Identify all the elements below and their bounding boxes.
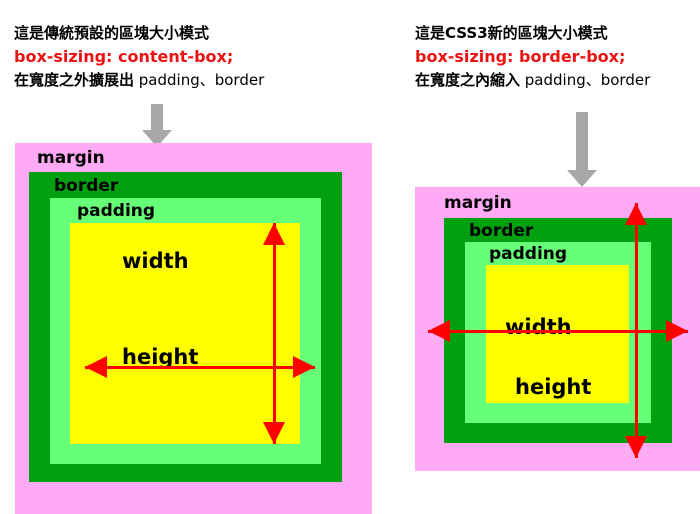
arrow-head-left xyxy=(428,320,450,342)
height-label: height xyxy=(515,377,591,398)
caption-line-intro: 這是傳統預設的區塊大小模式 xyxy=(14,22,264,45)
border-label: border xyxy=(469,223,533,240)
width-measure-arrow xyxy=(428,319,688,343)
caption-content-box: 這是傳統預設的區塊大小模式 box-sizing: content-box; 在… xyxy=(14,22,264,91)
caption-detail-plain: padding、border xyxy=(520,71,650,89)
caption-line-code: box-sizing: border-box; xyxy=(415,45,650,69)
height-measure-arrow xyxy=(262,223,286,444)
down-arrow-icon xyxy=(142,104,172,147)
height-measure-arrow xyxy=(624,203,648,458)
caption-line-detail: 在寬度之外擴展出 padding、border xyxy=(14,69,264,92)
arrow-head-bottom xyxy=(625,436,647,458)
arrow-shaft xyxy=(273,223,276,444)
arrow-head-bottom xyxy=(263,422,285,444)
arrow-head-right xyxy=(666,320,688,342)
arrow-shaft xyxy=(635,203,638,458)
padding-label: padding xyxy=(489,246,567,263)
arrow-head-right xyxy=(293,356,315,378)
margin-area-content-box: margin border padding width height xyxy=(15,143,372,514)
caption-line-intro: 這是CSS3新的區塊大小模式 xyxy=(415,22,650,45)
caption-border-box: 這是CSS3新的區塊大小模式 box-sizing: border-box; 在… xyxy=(415,22,650,91)
arrow-head-top xyxy=(625,203,647,225)
arrow-head xyxy=(567,170,597,187)
down-arrow-icon xyxy=(567,112,597,187)
arrow-head-top xyxy=(263,223,285,245)
caption-line-code: box-sizing: content-box; xyxy=(14,45,264,69)
border-area-content-box: border padding width height xyxy=(29,172,342,482)
arrow-head-left xyxy=(85,356,107,378)
width-label: width xyxy=(122,251,189,272)
arrow-shaft xyxy=(151,104,163,130)
caption-detail-plain: padding、border xyxy=(134,71,264,89)
caption-line-detail: 在寬度之內縮入 padding、border xyxy=(415,69,650,92)
margin-label: margin xyxy=(37,150,105,167)
border-label: border xyxy=(54,178,118,195)
margin-label: margin xyxy=(444,195,512,212)
caption-detail-bold: 在寬度之外擴展出 xyxy=(14,71,134,89)
arrow-shaft xyxy=(576,112,588,170)
arrow-shaft xyxy=(428,330,688,333)
caption-detail-bold: 在寬度之內縮入 xyxy=(415,71,520,89)
padding-label: padding xyxy=(77,203,155,220)
margin-area-border-box: margin border padding width height xyxy=(415,187,700,471)
